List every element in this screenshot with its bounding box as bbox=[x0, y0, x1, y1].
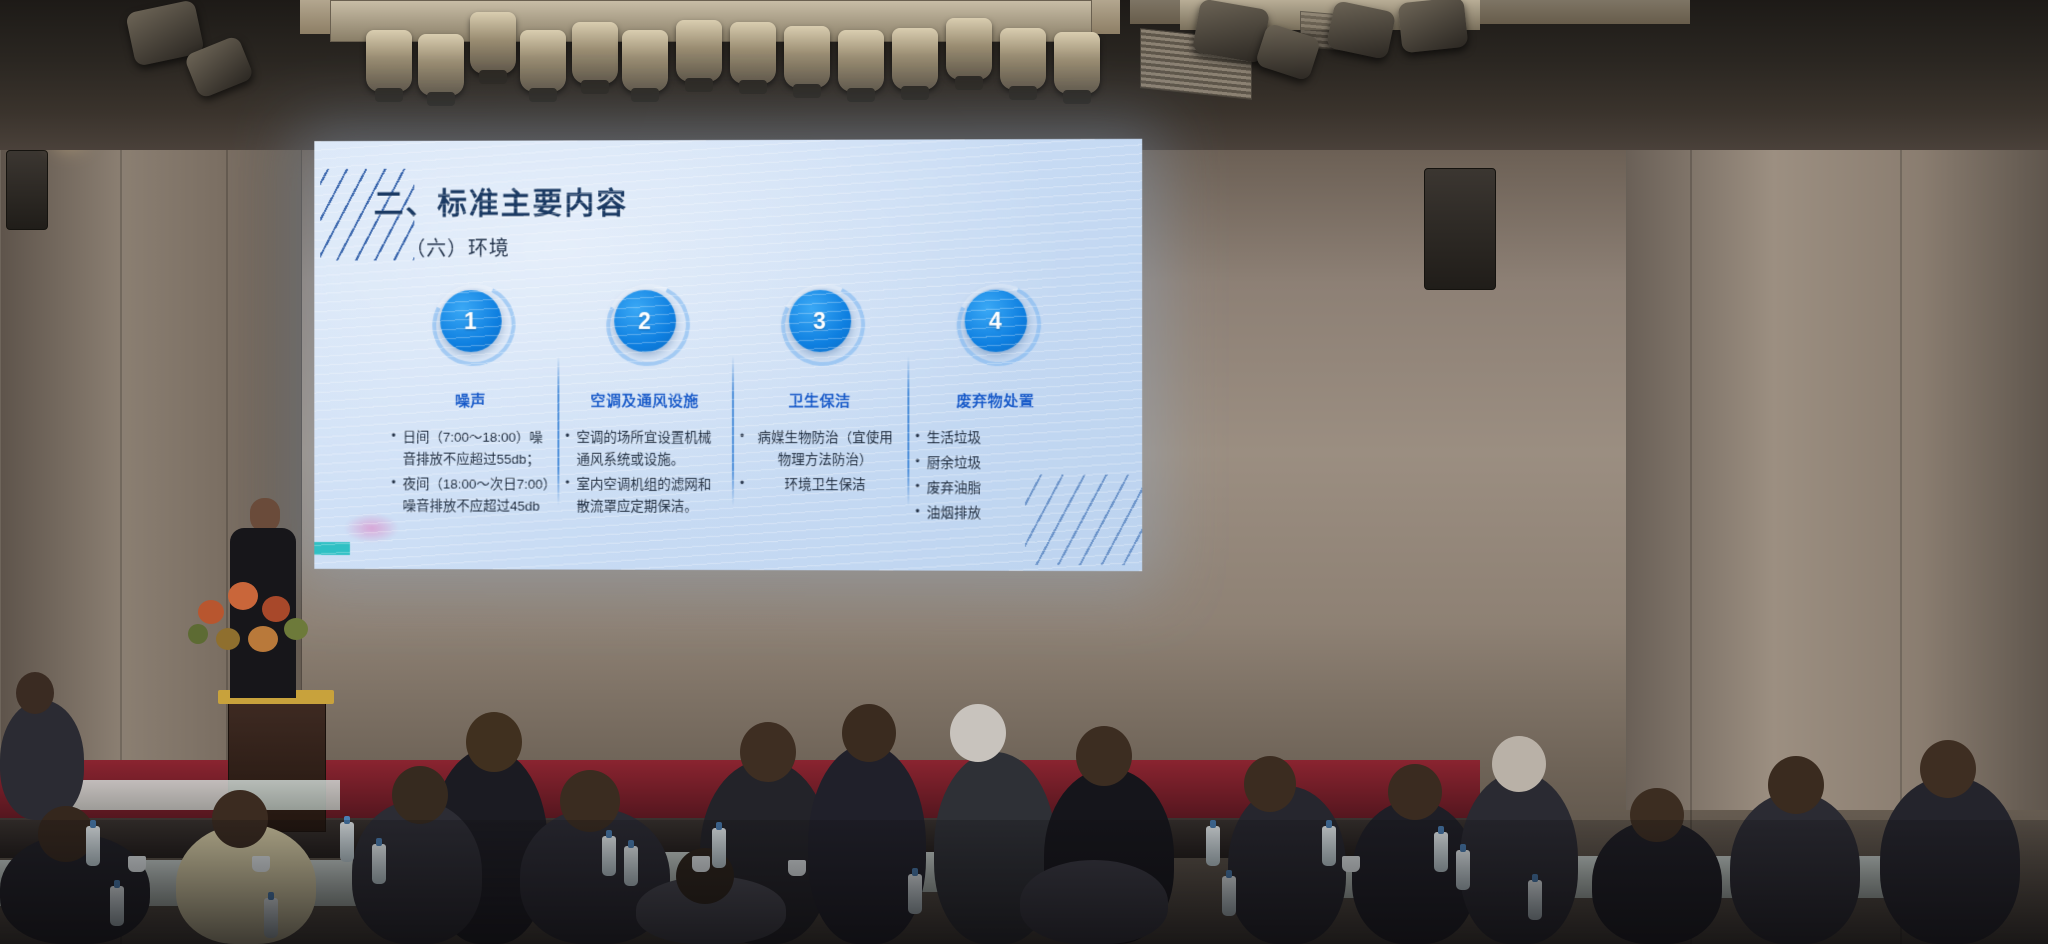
bullet-text: 夜间（18:00～次日7:00）噪音排放不应超过45db bbox=[403, 473, 550, 517]
column-bullets-3: • 病媒生物防治（宜使用物理方法防治） • 环境卫生保洁 bbox=[732, 427, 907, 499]
bullet-item: • 日间（7:00～18:00）噪音排放不应超过55db； bbox=[392, 427, 550, 471]
audience-head bbox=[842, 704, 896, 762]
projection-screen[interactable]: 二、标准主要内容 （六）环境 1 噪声 • 日间（7:00～18:00）噪音排放… bbox=[314, 139, 1142, 571]
flower bbox=[228, 582, 258, 610]
flower bbox=[284, 618, 308, 640]
bullet-dot-icon: • bbox=[915, 502, 919, 524]
column-heading-1: 噪声 bbox=[455, 390, 486, 411]
conference-hall-photo: 二、标准主要内容 （六）环境 1 噪声 • 日间（7:00～18:00）噪音排放… bbox=[0, 0, 2048, 944]
bullet-text: 病媒生物防治（宜使用物理方法防治） bbox=[751, 427, 899, 471]
stage-lamp bbox=[470, 12, 516, 74]
stage-lamp bbox=[572, 22, 618, 84]
bullet-text: 环境卫生保洁 bbox=[751, 474, 899, 496]
stage-lamp bbox=[838, 30, 884, 92]
wall-seam bbox=[1690, 90, 1692, 944]
bullet-text: 日间（7:00～18:00）噪音排放不应超过55db； bbox=[403, 427, 550, 471]
bullet-item: • 环境卫生保洁 bbox=[740, 474, 899, 496]
presentation-slide: 二、标准主要内容 （六）环境 1 噪声 • 日间（7:00～18:00）噪音排放… bbox=[314, 139, 1142, 571]
bullet-item: • 室内空调机组的滤网和散流罩应定期保洁。 bbox=[565, 473, 724, 517]
step-bubble-1: 1 bbox=[440, 290, 502, 352]
presenter-head bbox=[250, 498, 280, 532]
bullet-dot-icon: • bbox=[915, 427, 919, 449]
slide-column-2: 2 空调及通风设施 • 空调的场所宜设置机械通风系统或设施。 • 室内空调机组的… bbox=[557, 290, 732, 540]
audience-table bbox=[40, 780, 340, 810]
column-heading-3: 卫生保洁 bbox=[789, 390, 851, 411]
stage-lamp bbox=[418, 34, 464, 96]
teal-accent-bar bbox=[314, 542, 350, 555]
step-bubble-3: 3 bbox=[789, 290, 851, 352]
bullet-text: 空调的场所宜设置机械通风系统或设施。 bbox=[577, 427, 724, 471]
audience-head bbox=[1920, 740, 1976, 798]
audience-head bbox=[466, 712, 522, 772]
column-bullets-2: • 空调的场所宜设置机械通风系统或设施。 • 室内空调机组的滤网和散流罩应定期保… bbox=[557, 427, 732, 521]
bullet-item: • 病媒生物防治（宜使用物理方法防治） bbox=[740, 427, 899, 471]
audience-head bbox=[1076, 726, 1132, 786]
audience-head bbox=[1388, 764, 1442, 820]
bullet-text: 油烟排放 bbox=[927, 502, 1076, 524]
flower-arrangement bbox=[188, 570, 348, 670]
flower bbox=[248, 626, 278, 652]
flower bbox=[262, 596, 290, 622]
audience-member bbox=[0, 700, 84, 820]
stage-lamp bbox=[892, 28, 938, 90]
stage-spotlight bbox=[1398, 0, 1469, 53]
bullet-dot-icon: • bbox=[915, 452, 919, 474]
slide-subtitle: （六）环境 bbox=[405, 232, 509, 261]
stage-lamp bbox=[1000, 28, 1046, 90]
flower bbox=[188, 624, 208, 644]
bullet-dot-icon: • bbox=[392, 427, 396, 471]
foreground-shadow bbox=[0, 820, 2048, 944]
bullet-dot-icon: • bbox=[392, 473, 396, 517]
bullet-text: 生活垃圾 bbox=[927, 427, 1076, 449]
bullet-item: • 空调的场所宜设置机械通风系统或设施。 bbox=[565, 427, 724, 471]
bullet-text: 厨余垃圾 bbox=[927, 452, 1076, 474]
slide-column-4: 4 废弃物处置 • 生活垃圾 • 厨余垃圾 • bbox=[907, 290, 1083, 541]
wall-speaker bbox=[6, 150, 48, 230]
step-bubble-2: 2 bbox=[614, 290, 676, 352]
bullet-item: • 油烟排放 bbox=[915, 502, 1075, 524]
step-number-1: 1 bbox=[464, 310, 477, 333]
audience-head bbox=[1244, 756, 1296, 812]
bullet-item: • 厨余垃圾 bbox=[915, 452, 1075, 474]
bullet-dot-icon: • bbox=[740, 427, 744, 471]
bullet-text: 室内空调机组的滤网和散流罩应定期保洁。 bbox=[577, 473, 724, 517]
bullet-item: • 生活垃圾 bbox=[915, 427, 1075, 449]
stage-lamp bbox=[946, 18, 992, 80]
audience-head bbox=[1768, 756, 1824, 814]
stage-lamp bbox=[520, 30, 566, 92]
bullet-dot-icon: • bbox=[565, 427, 569, 471]
stage-lamp bbox=[784, 26, 830, 88]
column-bullets-4: • 生活垃圾 • 厨余垃圾 • 废弃油脂 • 油 bbox=[907, 427, 1083, 527]
bullet-dot-icon: • bbox=[915, 477, 919, 499]
flower bbox=[198, 600, 224, 624]
step-bubble-4: 4 bbox=[964, 290, 1026, 352]
slide-columns: 1 噪声 • 日间（7:00～18:00）噪音排放不应超过55db； • 夜间（… bbox=[384, 290, 1084, 541]
bullet-dot-icon: • bbox=[565, 473, 569, 517]
bullet-item: • 废弃油脂 bbox=[915, 477, 1075, 499]
bullet-text: 废弃油脂 bbox=[927, 477, 1076, 499]
bullet-dot-icon: • bbox=[740, 474, 744, 496]
stage-lamp bbox=[1054, 32, 1100, 94]
audience-head bbox=[16, 672, 54, 714]
audience-head bbox=[740, 722, 796, 782]
slide-column-1: 1 噪声 • 日间（7:00～18:00）噪音排放不应超过55db； • 夜间（… bbox=[384, 290, 558, 539]
stage-lamp bbox=[366, 30, 412, 92]
slide-title: 二、标准主要内容 bbox=[374, 178, 628, 222]
bullet-item: • 夜间（18:00～次日7:00）噪音排放不应超过45db bbox=[392, 473, 550, 517]
stage-lamp bbox=[622, 30, 668, 92]
stage-lamp bbox=[676, 20, 722, 82]
audience-head bbox=[950, 704, 1006, 762]
column-heading-4: 废弃物处置 bbox=[956, 390, 1034, 411]
step-number-4: 4 bbox=[989, 309, 1002, 332]
wall-speaker bbox=[1424, 168, 1496, 290]
audience-head bbox=[1492, 736, 1546, 792]
column-bullets-1: • 日间（7:00～18:00）噪音排放不应超过55db； • 夜间（18:00… bbox=[384, 427, 558, 520]
step-number-3: 3 bbox=[813, 309, 826, 332]
audience-head bbox=[392, 766, 448, 824]
flower bbox=[216, 628, 240, 650]
slide-column-3: 3 卫生保洁 • 病媒生物防治（宜使用物理方法防治） • 环境卫生保洁 bbox=[732, 290, 907, 541]
step-number-2: 2 bbox=[638, 310, 651, 333]
column-heading-2: 空调及通风设施 bbox=[591, 390, 699, 411]
stage-lamp bbox=[730, 22, 776, 84]
